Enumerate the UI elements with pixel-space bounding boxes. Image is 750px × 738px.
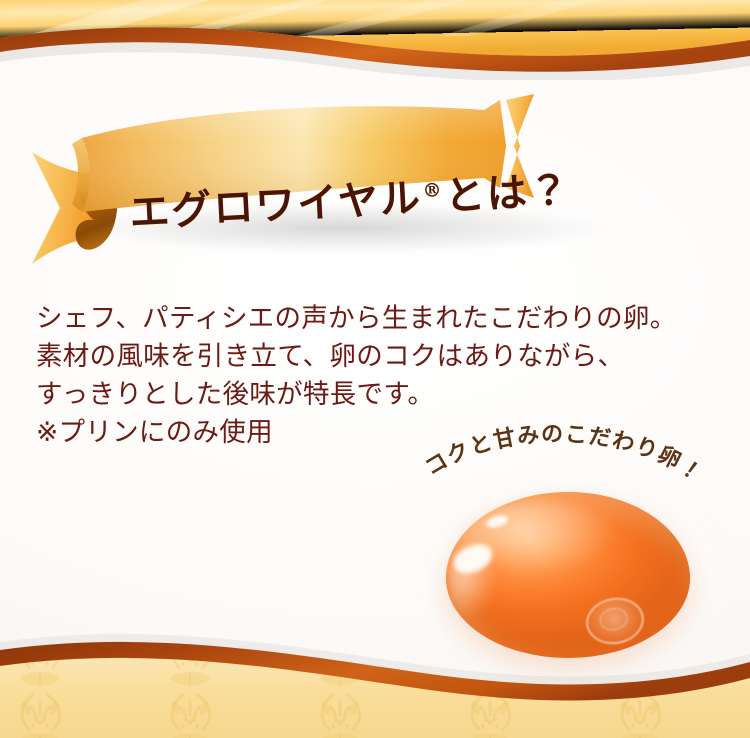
ribbon-drop-shadow [74, 202, 614, 254]
ribbon-banner: エグロワイヤル®とは？ [14, 88, 634, 268]
body-line-4-note: ※プリンにのみ使用 [36, 414, 696, 452]
ribbon-right-tail [506, 94, 534, 198]
ribbon-band-shading [82, 100, 506, 212]
promo-page: エグロワイヤル®とは？ シェフ、パティシエの声から生まれたこだわりの卵。 素材の… [0, 0, 750, 738]
body-line-2: 素材の風味を引き立て、卵のコクはありながら、 [36, 338, 696, 376]
egg-yolk-photo [390, 420, 750, 700]
ribbon-banner-graphic [14, 88, 634, 268]
body-line-3: すっきりとした後味が特長です。 [36, 376, 696, 414]
body-copy: シェフ、パティシエの声から生まれたこだわりの卵。 素材の風味を引き立て、卵のコク… [36, 300, 696, 452]
body-line-1: シェフ、パティシエの声から生まれたこだわりの卵。 [36, 300, 696, 338]
